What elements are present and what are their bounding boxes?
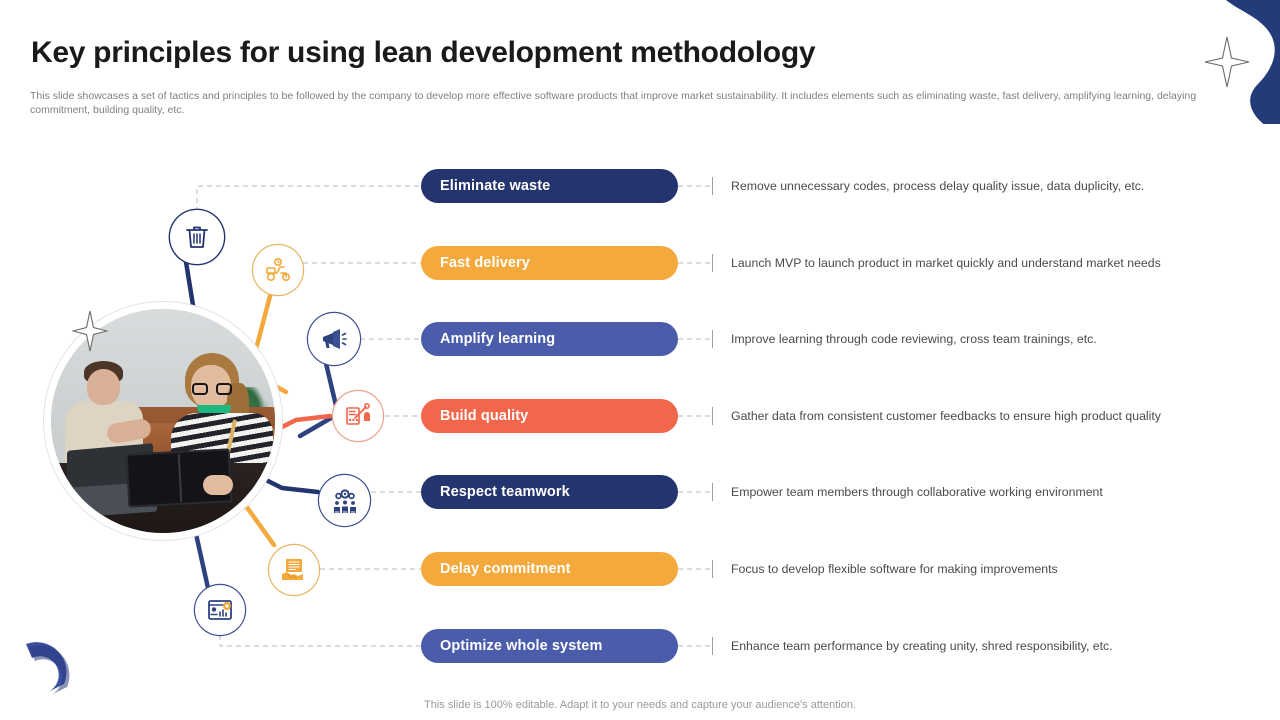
principle-pill-2[interactable]: Fast delivery	[421, 246, 678, 280]
system-dashboard-gear-icon	[205, 595, 235, 625]
principle-pill-6[interactable]: Delay commitment	[421, 552, 678, 586]
principle-description-5: Empower team members through collaborati…	[731, 485, 1251, 500]
connector-tick	[712, 560, 713, 578]
connector-tick	[712, 407, 713, 425]
icon-circle-fast-delivery[interactable]	[253, 245, 303, 295]
page-subtitle: This slide showcases a set of tactics an…	[30, 89, 1220, 117]
icon-circle-amplify-learning[interactable]	[308, 313, 360, 365]
principle-label: Eliminate waste	[440, 178, 550, 194]
principle-description-1: Remove unnecessary codes, process delay …	[731, 179, 1251, 194]
principle-pill-1[interactable]: Eliminate waste	[421, 169, 678, 203]
principle-label: Respect teamwork	[440, 484, 570, 500]
connector-tick	[712, 483, 713, 501]
four-point-star-icon	[72, 310, 108, 352]
icon-circle-respect-teamwork[interactable]	[319, 475, 370, 526]
quality-crane-icon	[343, 401, 373, 431]
principle-label: Delay commitment	[440, 561, 571, 577]
slide-canvas: Key principles for using lean developmen…	[0, 0, 1280, 720]
delivery-scooter-icon	[263, 255, 293, 285]
principle-label: Optimize whole system	[440, 638, 602, 654]
four-point-star-icon	[1204, 36, 1250, 88]
principle-description-6: Focus to develop flexible software for m…	[731, 562, 1251, 577]
principle-pill-5[interactable]: Respect teamwork	[421, 475, 678, 509]
principle-label: Build quality	[440, 408, 528, 424]
principle-description-4: Gather data from consistent customer fee…	[731, 409, 1251, 424]
connector-tick	[712, 177, 713, 195]
footer-note: This slide is 100% editable. Adapt it to…	[0, 699, 1280, 711]
icon-circle-optimize-whole-system[interactable]	[195, 585, 245, 635]
principle-pill-4[interactable]: Build quality	[421, 399, 678, 433]
principle-label: Fast delivery	[440, 255, 530, 271]
icon-circle-delay-commitment[interactable]	[269, 545, 319, 595]
connector-tick	[712, 330, 713, 348]
navy-arc-shape	[18, 636, 84, 698]
principle-label: Amplify learning	[440, 331, 555, 347]
principle-description-7: Enhance team performance by creating uni…	[731, 639, 1251, 654]
teamwork-gears-icon	[330, 486, 360, 516]
trash-bin-icon	[182, 222, 212, 252]
page-title: Key principles for using lean developmen…	[31, 36, 815, 70]
connector-tick	[712, 637, 713, 655]
handshake-document-icon	[279, 555, 309, 585]
megaphone-icon	[319, 324, 349, 354]
connector-tick	[712, 254, 713, 272]
principle-pill-7[interactable]: Optimize whole system	[421, 629, 678, 663]
principle-description-3: Improve learning through code reviewing,…	[731, 332, 1251, 347]
icon-circle-eliminate-waste[interactable]	[170, 210, 224, 264]
principle-pill-3[interactable]: Amplify learning	[421, 322, 678, 356]
principle-description-2: Launch MVP to launch product in market q…	[731, 256, 1251, 271]
icon-circle-build-quality[interactable]	[333, 391, 383, 441]
